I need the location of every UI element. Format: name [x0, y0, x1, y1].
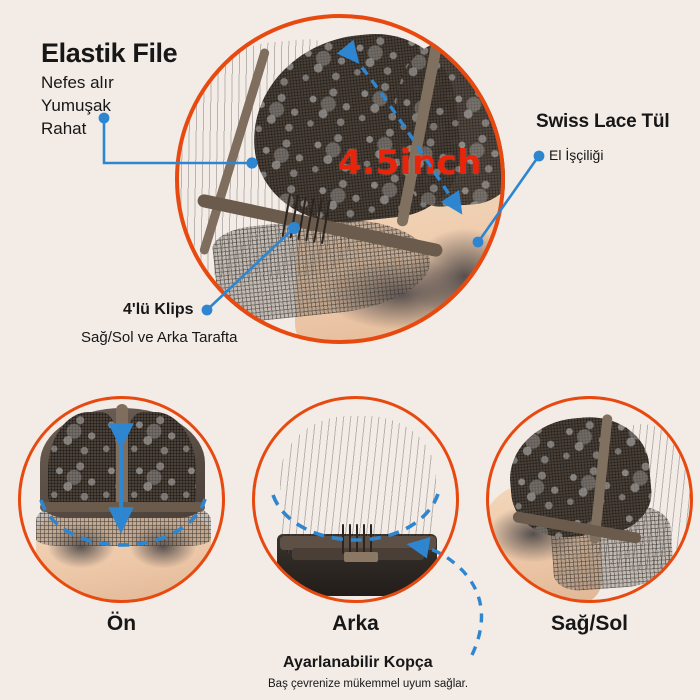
leader-clips — [202, 222, 300, 315]
annotation-overlay — [0, 0, 700, 700]
leader-adjustable-strap — [418, 546, 481, 655]
back-circumference-curve — [273, 494, 438, 540]
infographic-canvas: 4.5inch Elastik File Nefes alır Yumuşak … — [0, 0, 700, 700]
leader-swiss-lace — [473, 151, 545, 248]
measurement-arrow-hero — [352, 55, 456, 205]
leader-elastik-file — [99, 113, 258, 169]
